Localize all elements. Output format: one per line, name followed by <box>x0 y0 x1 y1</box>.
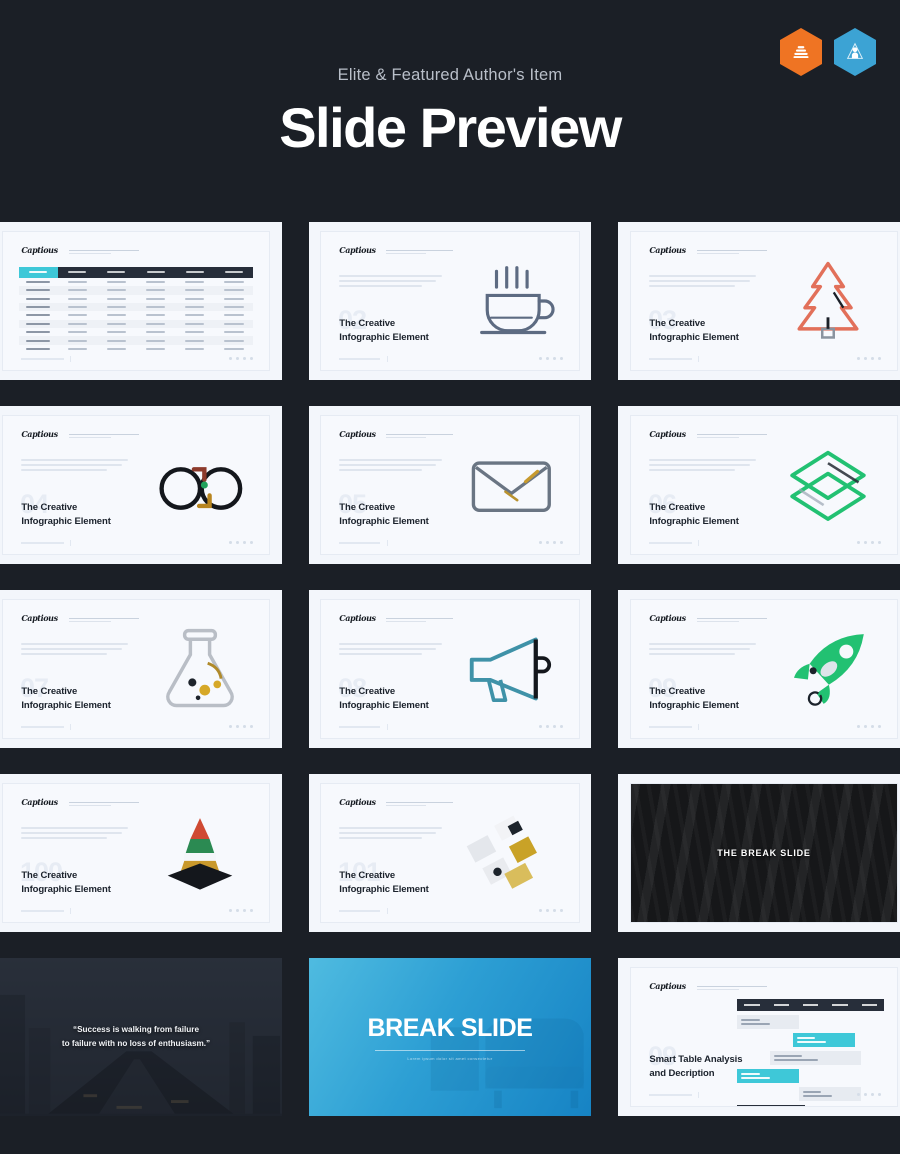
slide-frame: Captious 03 The Creative Infographic Ele… <box>618 222 900 380</box>
slide-canvas: Captious 09 The Creative Infographic Ele… <box>630 599 899 738</box>
slide-footnote <box>21 910 64 912</box>
slide-footnote <box>339 542 380 544</box>
megaphone-icon <box>465 624 558 714</box>
slide-frame: “Success is walking from failure to fail… <box>0 958 282 1116</box>
slide-title-line2: Infographic Element <box>339 699 428 713</box>
slide-title-line1: The Creative <box>339 685 428 699</box>
slide-title-line2: Infographic Element <box>339 331 428 345</box>
logo-rule <box>697 618 766 619</box>
slide-canvas: THE BREAK SLIDE <box>630 783 899 922</box>
slide-body-text <box>339 275 442 290</box>
slide-pagination-dots[interactable] <box>229 357 253 360</box>
slide-thumbnail[interactable]: Captious 06 The Creative Infographic Ele… <box>618 406 900 564</box>
slide-thumbnail[interactable]: Captious 02 The Creative Infographic Ele… <box>309 222 591 380</box>
quote-text: “Success is walking from failure to fail… <box>62 1023 210 1051</box>
slide-body-text <box>339 459 442 474</box>
author-badges <box>780 28 876 76</box>
gantt-task-bar <box>793 1033 855 1047</box>
table-row <box>19 278 254 286</box>
slide-title: The Creative Infographic Element <box>649 317 738 345</box>
quote-line2: to failure with no loss of enthusiasm.” <box>62 1037 210 1051</box>
gantt-header-cell <box>737 999 766 1011</box>
slide-canvas: Captious 09 Smart Table Analysis and Dec… <box>630 967 899 1106</box>
slide-pagination-dots[interactable] <box>857 1093 881 1096</box>
slide-canvas: Captious 100 The Creative Infographic El… <box>2 783 271 922</box>
break-slide-divider <box>375 1050 525 1051</box>
slide-footnote <box>21 358 64 360</box>
slide-logo: Captious <box>339 797 375 807</box>
slide-title-line2: Infographic Element <box>649 331 738 345</box>
slide-title-line1: The Creative <box>339 869 428 883</box>
slide-frame: Captious 04 The Creative Infographic Ele… <box>0 406 282 564</box>
logo-rule <box>697 250 766 251</box>
gantt-header-row <box>737 999 884 1011</box>
logo-rule <box>386 434 453 435</box>
gantt-task-bar <box>770 1051 861 1065</box>
slide-footnote <box>21 542 64 544</box>
logo-rule <box>69 802 138 803</box>
stacked-layers-icon <box>780 440 876 530</box>
lab-flask-icon <box>152 624 248 714</box>
logo-rule <box>697 986 766 987</box>
slide-logo: Captious <box>21 245 57 255</box>
slide-pagination-dots[interactable] <box>857 541 881 544</box>
slide-thumbnail[interactable]: Captious <box>0 222 282 380</box>
slide-logo: Captious <box>649 429 685 439</box>
slide-frame: Captious 06 The Creative Infographic Ele… <box>618 406 900 564</box>
slide-pagination-dots[interactable] <box>857 725 881 728</box>
slide-title: The Creative Infographic Element <box>649 501 738 529</box>
table-row <box>19 303 254 311</box>
table-header-cell <box>175 267 214 278</box>
slide-pagination-dots[interactable] <box>539 357 563 360</box>
pine-tree-icon <box>780 256 876 346</box>
slide-frame: THE BREAK SLIDE <box>618 774 900 932</box>
table-row <box>19 328 254 336</box>
logo-rule <box>69 250 138 251</box>
slide-title-line2: Infographic Element <box>649 699 738 713</box>
header-subtitle: Elite & Featured Author's Item <box>0 66 900 85</box>
slide-canvas: Captious 06 The Creative Infographic Ele… <box>630 415 899 554</box>
slide-logo: Captious <box>649 981 685 991</box>
slide-thumbnail[interactable]: Captious 03 The Creative Infographic Ele… <box>618 222 900 380</box>
slide-canvas: “Success is walking from failure to fail… <box>0 958 282 1116</box>
table-row <box>19 336 254 344</box>
gantt-header-cell <box>855 999 884 1011</box>
break-slide-label: THE BREAK SLIDE <box>717 848 811 858</box>
slide-frame: Captious 09 Smart Table Analysis and Dec… <box>618 958 900 1116</box>
slide-frame: Captious 02 The Creative Infographic Ele… <box>309 222 591 380</box>
slide-title-line1: The Creative <box>21 685 110 699</box>
slide-title: The Creative Infographic Element <box>649 685 738 713</box>
logo-rule <box>386 802 453 803</box>
slide-logo: Captious <box>649 245 685 255</box>
slide-title-line1: The Creative <box>649 685 738 699</box>
coffee-cup-icon <box>465 256 558 346</box>
slide-footnote <box>339 910 380 912</box>
slide-title-line1: The Creative <box>339 317 428 331</box>
slide-footnote <box>649 358 692 360</box>
slide-title-line2: Infographic Element <box>339 515 428 529</box>
gantt-header-cell <box>796 999 825 1011</box>
slide-title-line1: The Creative <box>649 317 738 331</box>
gantt-task-bar <box>737 1015 799 1029</box>
break-slide-sublabel: Lorem ipsum dolor sit amet consectetur <box>407 1056 492 1061</box>
envato-elite-badge[interactable] <box>780 28 822 76</box>
slide-title-line2: Infographic Element <box>21 699 110 713</box>
logo-rule <box>697 434 766 435</box>
slide-pagination-dots[interactable] <box>229 541 253 544</box>
slide-title-line2: Infographic Element <box>21 883 110 897</box>
slide-body-text <box>339 643 442 658</box>
slide-thumbnail[interactable]: Captious 09 The Creative Infographic Ele… <box>618 590 900 748</box>
table-row <box>19 320 254 328</box>
slide-footnote <box>339 358 380 360</box>
gantt-chart <box>737 999 884 1107</box>
rocket-icon <box>780 624 876 714</box>
slide-title-line1: The Creative <box>21 869 110 883</box>
slide-title-line1: The Creative <box>21 501 110 515</box>
slide-canvas: Captious 101 The Creative Infographic El… <box>320 783 579 922</box>
slide-body-text <box>21 827 128 842</box>
slide-body-text <box>339 827 442 842</box>
slide-thumbnail[interactable]: Captious 07 The Creative Infographic Ele… <box>0 590 282 748</box>
slide-body-text <box>21 643 128 658</box>
table-row <box>19 345 254 353</box>
slide-frame: Captious 09 The Creative Infographic Ele… <box>618 590 900 748</box>
slide-pagination-dots[interactable] <box>539 725 563 728</box>
slide-logo: Captious <box>21 429 57 439</box>
table-row <box>19 311 254 319</box>
sofa-backdrop-icon <box>422 993 591 1116</box>
table-row <box>19 286 254 294</box>
slide-thumbnail[interactable]: THE BREAK SLIDE <box>618 774 900 932</box>
slide-title-line2: and Decription <box>649 1067 742 1081</box>
slide-canvas: Captious 08 The Creative Infographic Ele… <box>320 599 579 738</box>
slide-grid: Captious <box>0 222 900 1116</box>
slide-footnote <box>649 1094 692 1096</box>
slide-logo: Captious <box>339 245 375 255</box>
slide-body-text <box>649 275 756 290</box>
slide-logo: Captious <box>339 429 375 439</box>
slide-frame: Captious <box>0 222 282 380</box>
stacked-bars-hexagon-icon <box>791 42 811 62</box>
slide-title: The Creative Infographic Element <box>21 685 110 713</box>
infinity-loop-icon <box>152 440 248 530</box>
slide-canvas: Captious 07 The Creative Infographic Ele… <box>2 599 271 738</box>
gantt-task-bar <box>737 1069 799 1083</box>
quote-line1: “Success is walking from failure <box>62 1023 210 1037</box>
slide-pagination-dots[interactable] <box>539 909 563 912</box>
page-title: Slide Preview <box>0 95 900 160</box>
quote-slide: “Success is walking from failure to fail… <box>0 958 282 1116</box>
slide-canvas: BREAK SLIDE Lorem ipsum dolor sit amet c… <box>309 958 591 1116</box>
table-header-cell <box>214 267 253 278</box>
slide-title-line2: Infographic Element <box>21 515 110 529</box>
slide-title: The Creative Infographic Element <box>339 317 428 345</box>
slide-footnote <box>649 542 692 544</box>
slide-thumbnail[interactable]: Captious 09 Smart Table Analysis and Dec… <box>618 958 900 1116</box>
slide-title: The Creative Infographic Element <box>339 501 428 529</box>
slide-title: The Creative Infographic Element <box>21 501 110 529</box>
slide-body-text <box>649 459 756 474</box>
person-hexagon-icon <box>844 41 866 63</box>
slide-logo: Captious <box>21 613 57 623</box>
slide-title-line2: Infographic Element <box>339 883 428 897</box>
data-table <box>19 267 254 354</box>
break-slide-label: BREAK SLIDE <box>367 1014 532 1043</box>
table-header-cell <box>19 267 58 278</box>
slide-title-line1: The Creative <box>339 501 428 515</box>
logo-rule <box>69 618 138 619</box>
slide-thumbnail[interactable]: Captious 100 The Creative Infographic El… <box>0 774 282 932</box>
slide-footnote <box>339 726 380 728</box>
table-row <box>19 295 254 303</box>
slide-body-text <box>21 459 128 474</box>
slide-title-line1: Smart Table Analysis <box>649 1053 742 1067</box>
page-header: Elite & Featured Author's Item Slide Pre… <box>0 0 900 160</box>
slide-thumbnail[interactable]: Captious 08 The Creative Infographic Ele… <box>309 590 591 748</box>
slide-frame: BREAK SLIDE Lorem ipsum dolor sit amet c… <box>309 958 591 1116</box>
slide-canvas: Captious 02 The Creative Infographic Ele… <box>320 231 579 370</box>
slide-pagination-dots[interactable] <box>539 541 563 544</box>
table-header-cell <box>97 267 136 278</box>
gantt-header-cell <box>825 999 854 1011</box>
slide-logo: Captious <box>339 613 375 623</box>
slide-canvas: Captious 05 The Creative Infographic Ele… <box>320 415 579 554</box>
gantt-task-bar <box>799 1087 861 1101</box>
table-header-cell <box>58 267 97 278</box>
logo-rule <box>386 618 453 619</box>
slide-thumbnail[interactable]: Captious 101 The Creative Infographic El… <box>309 774 591 932</box>
slide-logo: Captious <box>21 797 57 807</box>
blue-break-slide: BREAK SLIDE Lorem ipsum dolor sit amet c… <box>309 958 591 1116</box>
slide-thumbnail[interactable]: BREAK SLIDE Lorem ipsum dolor sit amet c… <box>309 958 591 1116</box>
slide-footnote <box>649 726 692 728</box>
logo-rule <box>69 434 138 435</box>
logo-rule <box>386 250 453 251</box>
slide-title: The Creative Infographic Element <box>21 869 110 897</box>
gantt-task-bar <box>737 1105 804 1107</box>
gantt-header-cell <box>767 999 796 1011</box>
traffic-cone-icon <box>152 808 248 898</box>
slide-thumbnail[interactable]: Captious 05 The Creative Infographic Ele… <box>309 406 591 564</box>
slide-title-line1: The Creative <box>649 501 738 515</box>
slide-footnote <box>21 726 64 728</box>
slide-frame: Captious 101 The Creative Infographic El… <box>309 774 591 932</box>
slide-frame: Captious 07 The Creative Infographic Ele… <box>0 590 282 748</box>
slide-logo: Captious <box>649 613 685 623</box>
slide-title: The Creative Infographic Element <box>339 869 428 897</box>
slide-canvas: Captious 04 The Creative Infographic Ele… <box>2 415 271 554</box>
slide-thumbnail[interactable]: “Success is walking from failure to fail… <box>0 958 282 1116</box>
slide-pagination-dots[interactable] <box>857 357 881 360</box>
slide-frame: Captious 08 The Creative Infographic Ele… <box>309 590 591 748</box>
slide-title: The Creative Infographic Element <box>339 685 428 713</box>
slide-thumbnail[interactable]: Captious 04 The Creative Infographic Ele… <box>0 406 282 564</box>
slide-frame: Captious 100 The Creative Infographic El… <box>0 774 282 932</box>
table-header-row <box>19 267 254 278</box>
slide-title-line2: Infographic Element <box>649 515 738 529</box>
slide-pagination-dots[interactable] <box>229 909 253 912</box>
featured-author-badge[interactable] <box>834 28 876 76</box>
dark-break-slide: THE BREAK SLIDE <box>631 784 898 921</box>
table-header-cell <box>136 267 175 278</box>
slide-frame: Captious 05 The Creative Infographic Ele… <box>309 406 591 564</box>
scattered-cards-icon <box>465 808 558 898</box>
slide-pagination-dots[interactable] <box>229 725 253 728</box>
slide-canvas: Captious <box>2 231 271 370</box>
slide-body-text <box>649 643 756 658</box>
slide-canvas: Captious 03 The Creative Infographic Ele… <box>630 231 899 370</box>
slide-title: Smart Table Analysis and Decription <box>649 1053 742 1081</box>
envelope-icon <box>465 440 558 530</box>
